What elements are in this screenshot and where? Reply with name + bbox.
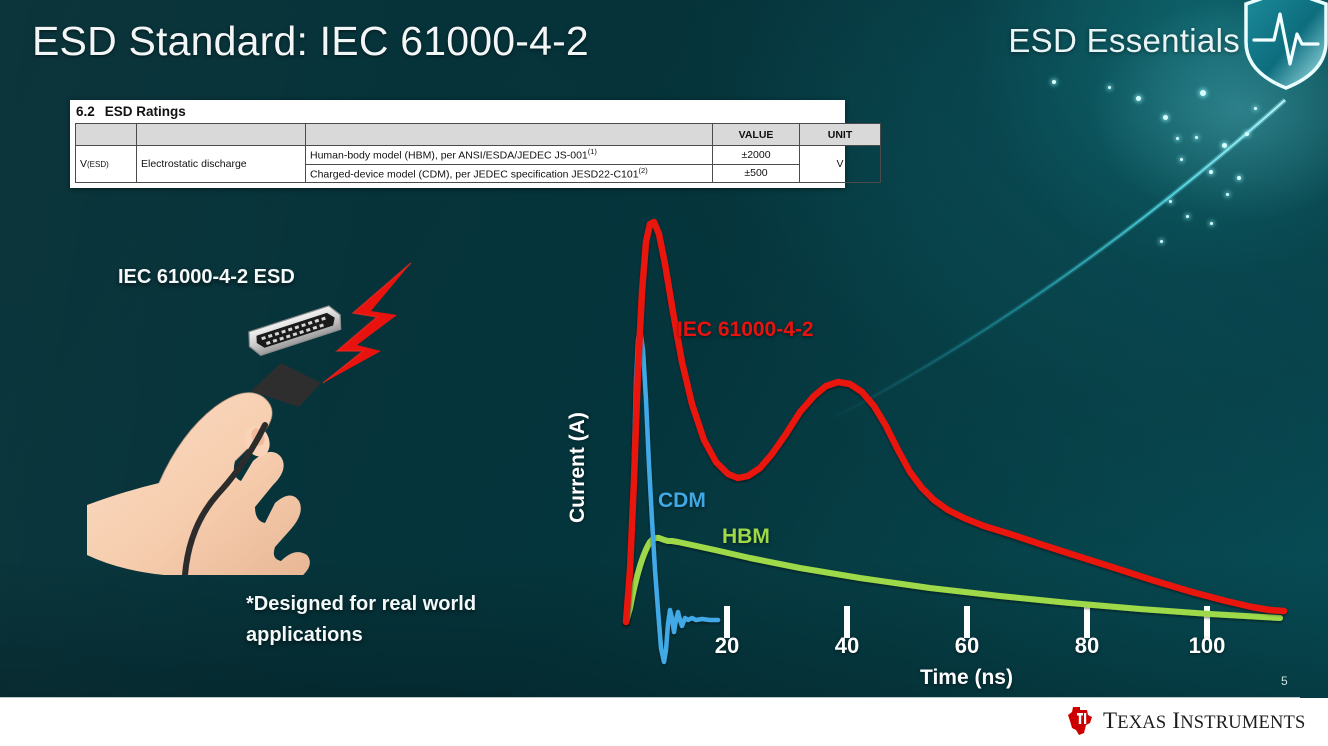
design-note: *Designed for real world applications (246, 589, 546, 651)
ti-wordmark-texas: EXAS (1117, 713, 1166, 733)
cell-parameter: Electrostatic discharge (137, 146, 306, 183)
particle-dot (1200, 90, 1206, 96)
spec-table: VALUE UNIT V(ESD) Electrostatic discharg… (75, 123, 881, 183)
texas-instruments-logo-icon (1066, 706, 1094, 736)
x-tick-20: 20 (715, 633, 739, 659)
slide-number: 5 (1281, 674, 1288, 688)
texas-instruments-wordmark: TEXAS INSTRUMENTS (1103, 708, 1306, 734)
col-symbol-header (76, 124, 137, 146)
particle-dot (1136, 96, 1141, 101)
cell-description-hbm: Human-body model (HBM), per ANSI/ESDA/JE… (306, 146, 713, 165)
particle-dot (1176, 137, 1179, 140)
cell-symbol: V(ESD) (76, 146, 137, 183)
series-label-hbm: HBM (722, 525, 770, 549)
particle-dot (1052, 80, 1056, 84)
chart-axes (620, 218, 1286, 638)
x-tick-100: 100 (1189, 633, 1226, 659)
description-cdm-text: Charged-device model (CDM), per JEDEC sp… (310, 168, 639, 180)
cell-value-hbm: ±2000 (713, 146, 800, 165)
col-unit-header: UNIT (800, 124, 881, 146)
table-row: V(ESD) Electrostatic discharge Human-bod… (76, 146, 881, 165)
series-label-cdm: CDM (658, 489, 706, 513)
cell-unit: V (800, 146, 881, 183)
slide-root: ESD Standard: IEC 61000-4-2 ESD Essentia… (0, 0, 1328, 746)
ti-wordmark-instruments: NSTRUMENTS (1180, 713, 1305, 733)
symbol-text: V (80, 158, 87, 170)
particle-dot (1237, 176, 1241, 180)
texas-instruments-logo: TEXAS INSTRUMENTS (1066, 706, 1306, 736)
particle-dot (1222, 143, 1227, 148)
col-parameter-header (137, 124, 306, 146)
cell-value-cdm: ±500 (713, 164, 800, 183)
symbol-subscript: (ESD) (87, 160, 109, 169)
col-description-header (306, 124, 713, 146)
brand-label: ESD Essentials (1008, 22, 1240, 60)
col-value-header: VALUE (713, 124, 800, 146)
x-tick-40: 40 (835, 633, 859, 659)
particle-dot (1108, 86, 1111, 89)
footnote-2: (2) (639, 166, 648, 175)
particle-dot (1163, 115, 1168, 120)
particle-dot (1180, 158, 1183, 161)
cell-description-cdm: Charged-device model (CDM), per JEDEC sp… (306, 164, 713, 183)
particle-dot (1209, 170, 1213, 174)
spec-table-title: 6.2ESD Ratings (70, 100, 845, 123)
particle-dot (1226, 193, 1229, 196)
esd-ratings-table: 6.2ESD Ratings VALUE UNIT V(ESD) Electro… (70, 100, 845, 188)
particle-dot (1245, 132, 1249, 136)
spec-section-title: ESD Ratings (105, 104, 186, 119)
description-hbm-text: Human-body model (HBM), per ANSI/ESDA/JE… (310, 150, 588, 162)
particle-dot (1195, 136, 1198, 139)
x-tick-80: 80 (1075, 633, 1099, 659)
shield-pulse-icon (1238, 0, 1328, 96)
series-label-iec: IEC 61000-4-2 (677, 318, 814, 342)
particle-dot (1254, 107, 1257, 110)
table-header-row: VALUE UNIT (76, 124, 881, 146)
series-iec-curve (626, 222, 1284, 622)
x-tick-60: 60 (955, 633, 979, 659)
spec-section-number: 6.2 (76, 104, 95, 119)
chart-x-axis-label: Time (ns) (920, 666, 1013, 690)
page-title: ESD Standard: IEC 61000-4-2 (32, 18, 589, 65)
footnote-1: (1) (588, 147, 597, 156)
chart-y-axis-label: Current (A) (566, 198, 590, 368)
y-axis-label-text: Current (A) (566, 353, 590, 523)
esd-waveform-chart (560, 200, 1300, 700)
hand-holding-hdmi-connector-icon (85, 255, 430, 575)
